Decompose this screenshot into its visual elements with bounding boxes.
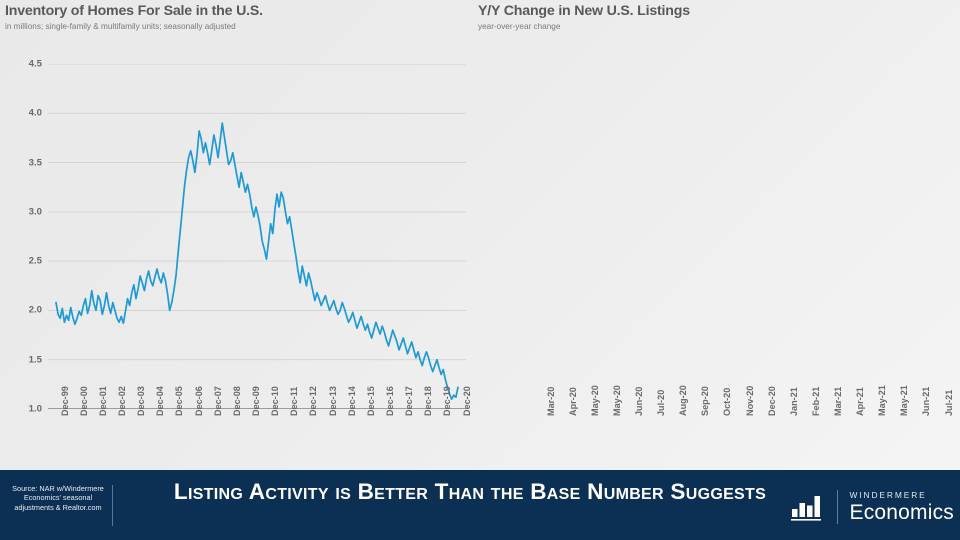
y-axis-tick-label: 1.0	[0, 404, 42, 415]
x-axis-tick-label: Dec-12	[308, 386, 318, 416]
y-axis-tick-label: 60%	[952, 59, 960, 70]
x-axis-tick-label: Dec-99	[60, 386, 70, 416]
x-axis-tick-label: Jun-21	[921, 387, 931, 416]
logo-divider	[837, 490, 838, 524]
chart-title-inventory: Inventory of Homes For Sale in the U.S.	[5, 3, 263, 19]
y-axis-tick-label: 40%	[952, 102, 960, 113]
logo-wordmark: WINDERMERE Economics	[849, 491, 954, 523]
x-axis-tick-label: Feb-21	[811, 387, 821, 416]
y-axis-tick-label: -60%	[952, 317, 960, 328]
chart-subtitle-inventory: in millions; single-family & multifamily…	[5, 22, 236, 31]
x-axis-tick-label: Dec-08	[232, 386, 242, 416]
y-axis-tick-label: 0%	[952, 188, 960, 199]
y-axis-tick-label: -20%	[952, 231, 960, 242]
x-axis-tick-label: Dec-11	[289, 387, 299, 416]
x-axis-tick-label: Dec-20	[462, 386, 472, 416]
x-axis-tick-label: Mar-21	[833, 387, 843, 416]
x-axis-tick-label: Dec-15	[366, 386, 376, 416]
slide-root: Inventory of Homes For Sale in the U.S. …	[0, 0, 960, 540]
x-axis-tick-label: Apr-21	[855, 387, 865, 416]
x-axis-tick-label: Dec-05	[174, 386, 184, 416]
x-axis-tick-label: Dec-20	[767, 386, 777, 416]
y-axis-tick-label: -40%	[952, 274, 960, 285]
x-axis-tick-label: Dec-18	[423, 386, 433, 416]
x-axis-tick-label: Sep-20	[700, 386, 710, 416]
y-axis-tick-label: 1.5	[0, 354, 42, 365]
x-axis-tick-label: Dec-01	[98, 386, 108, 416]
chart-title-yoy: Y/Y Change in New U.S. Listings	[478, 3, 690, 19]
x-axis-tick-label: Dec-07	[213, 386, 223, 416]
y-axis-tick-label: 3.5	[0, 157, 42, 168]
chart-subtitle-yoy: year-over-year change	[478, 22, 560, 31]
x-axis-tick-label: Jan-21	[789, 387, 799, 416]
x-axis-tick-label: May-21	[899, 385, 909, 416]
y-axis-tick-label: 20%	[952, 145, 960, 156]
y-axis-tick-label: 4.5	[0, 59, 42, 70]
x-axis-tick-label: Dec-13	[328, 386, 338, 416]
x-axis-tick-label: Jul-20	[656, 390, 666, 416]
x-axis-tick-label: May-20	[590, 385, 600, 416]
x-axis-tick-label: Dec-17	[404, 386, 414, 416]
x-axis-tick-label: Aug-20	[678, 385, 688, 416]
x-axis-tick-label: Dec-09	[251, 386, 261, 416]
source-divider	[112, 485, 113, 526]
x-axis-tick-label: Mar-20	[546, 387, 556, 416]
x-axis-tick-label: May-20	[612, 385, 622, 416]
x-axis-tick-label: Dec-14	[347, 386, 357, 416]
x-axis-tick-label: Dec-02	[117, 386, 127, 416]
x-axis-tick-label: Jun-20	[634, 387, 644, 416]
y-axis-tick-label: -80%	[952, 360, 960, 371]
x-axis-tick-label: Nov-20	[745, 386, 755, 416]
x-axis-tick-label: Dec-16	[385, 386, 395, 416]
windermere-economics-logo: WINDERMERE Economics	[790, 487, 954, 527]
source-note: Source: NAR w/Windermere Economics' seas…	[8, 484, 108, 512]
y-axis-tick-label: 4.0	[0, 108, 42, 119]
bar-chart-icon	[790, 492, 828, 522]
x-axis-tick-label: Dec-04	[155, 386, 165, 416]
y-axis-tick-label: 2.5	[0, 256, 42, 267]
y-axis-tick-label: 3.0	[0, 206, 42, 217]
x-axis-tick-label: Dec-03	[136, 386, 146, 416]
y-axis-tick-label: 2.0	[0, 305, 42, 316]
x-axis-tick-label: May-21	[877, 385, 887, 416]
inventory-line-chart	[48, 64, 466, 409]
x-axis-tick-label: Dec-10	[270, 386, 280, 416]
x-axis-tick-label: Jul-21	[944, 390, 954, 416]
logo-word-windermere: WINDERMERE	[849, 491, 954, 499]
bottom-banner: Source: NAR w/Windermere Economics' seas…	[0, 470, 960, 540]
x-axis-tick-label: Dec-19	[442, 386, 452, 416]
logo-word-economics: Economics	[849, 502, 954, 523]
banner-headline: Listing Activity is Better Than the Base…	[130, 478, 810, 505]
x-axis-tick-label: Dec-00	[79, 386, 89, 416]
x-axis-tick-label: Apr-20	[568, 387, 578, 416]
plot-area-inventory	[48, 64, 466, 409]
x-axis-tick-label: Dec-06	[194, 386, 204, 416]
x-axis-tick-label: Oct-20	[722, 388, 732, 416]
